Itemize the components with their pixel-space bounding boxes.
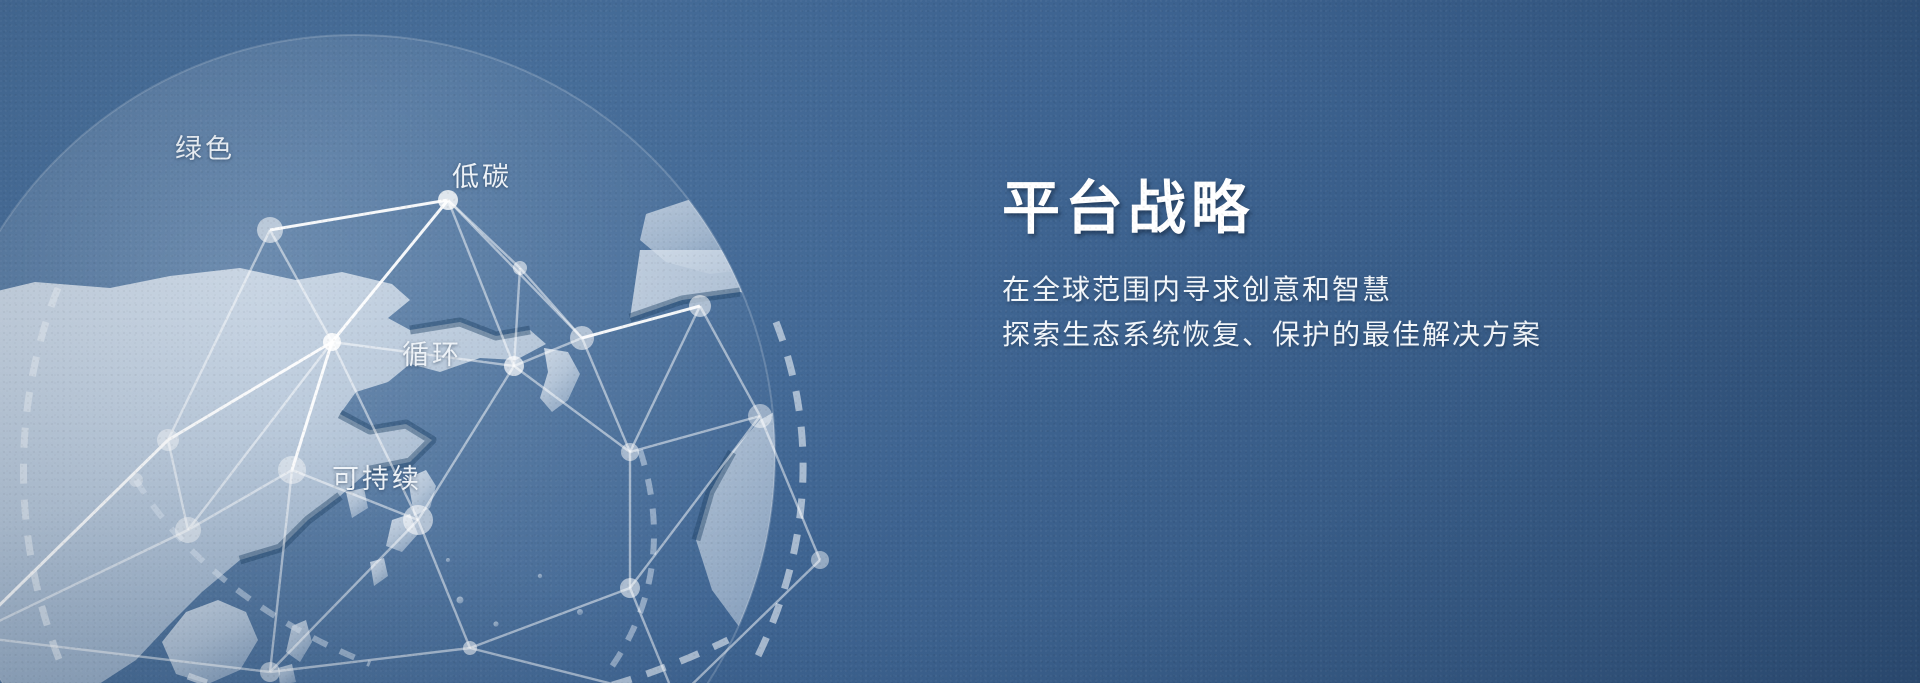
banner-headline: 平台战略 bbox=[1002, 178, 1722, 241]
globe-network-graphic: 绿色 低碳 循环 可持续 bbox=[0, 0, 840, 683]
banner-subline-2: 探索生态系统恢复、保护的最佳解决方案 bbox=[1002, 312, 1722, 357]
globe-label-sustainable: 可持续 bbox=[332, 457, 422, 496]
globe-label-low-carbon: 低碳 bbox=[452, 155, 512, 194]
globe-label-circular: 循环 bbox=[402, 333, 462, 372]
globe-label-green: 绿色 bbox=[175, 127, 235, 166]
banner-copy-block: 平台战略 在全球范围内寻求创意和智慧 探索生态系统恢复、保护的最佳解决方案 bbox=[1002, 178, 1722, 357]
banner-subline-1: 在全球范围内寻求创意和智慧 bbox=[1002, 267, 1722, 312]
hero-banner: 绿色 低碳 循环 可持续 平台战略 在全球范围内寻求创意和智慧 探索生态系统恢复… bbox=[0, 0, 1920, 683]
